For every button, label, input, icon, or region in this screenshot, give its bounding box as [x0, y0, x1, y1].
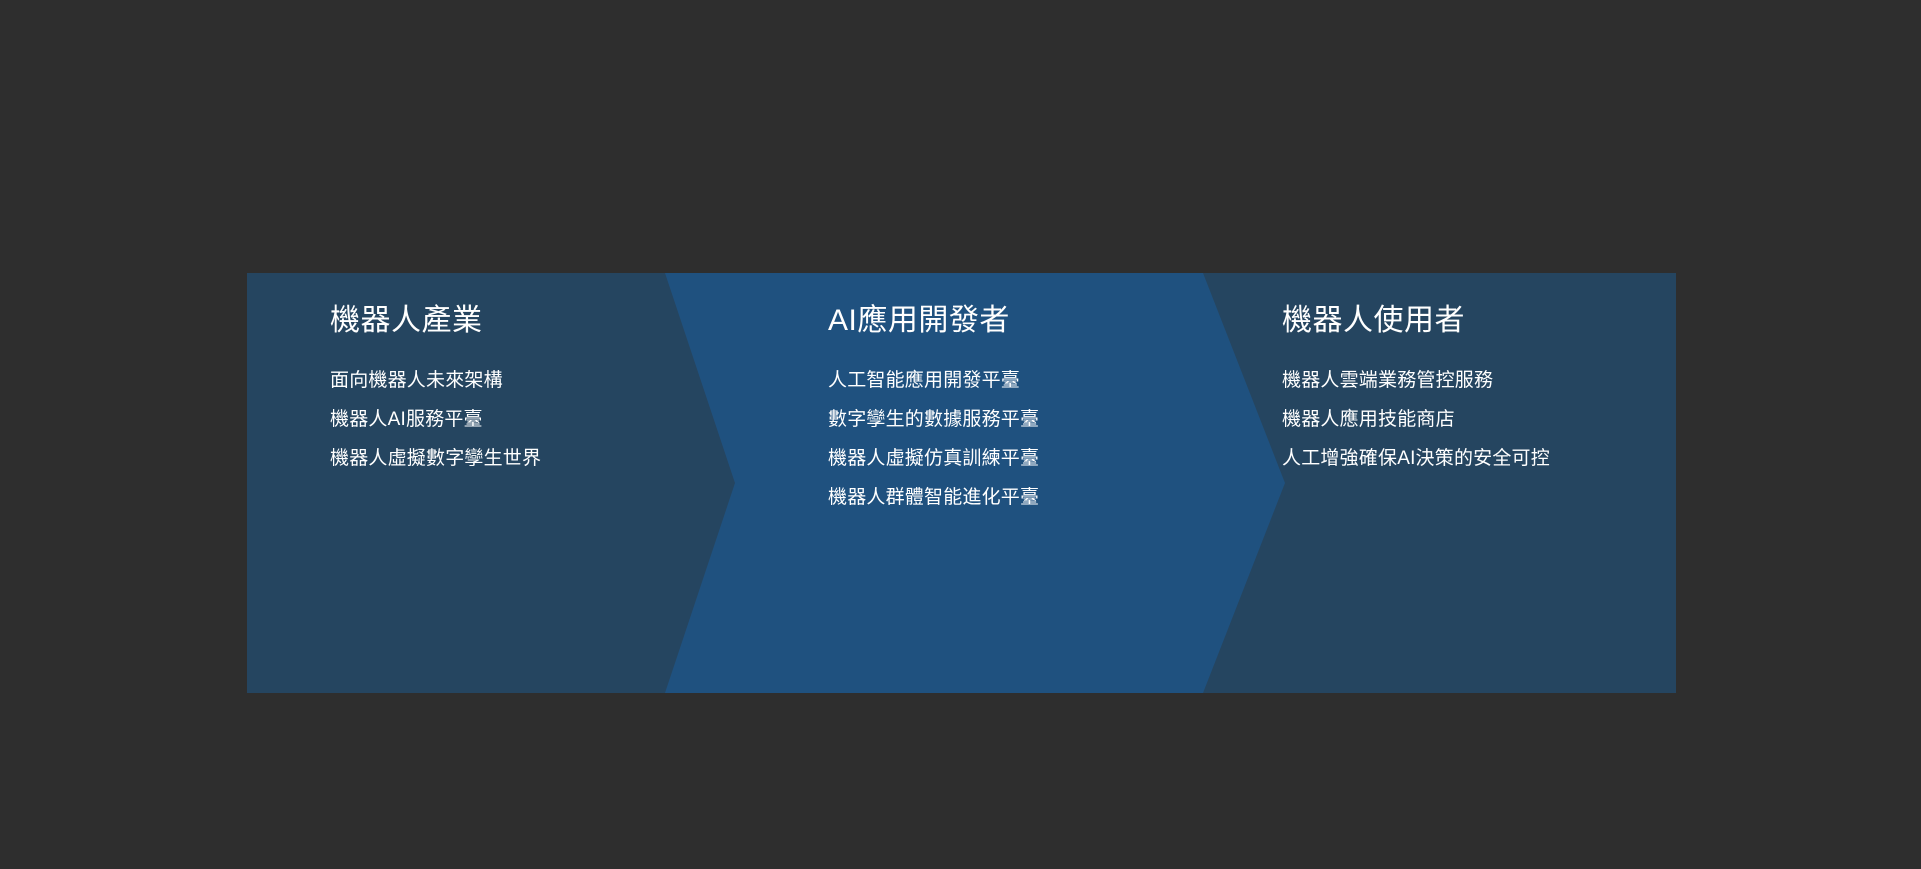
column-item-list: 面向機器人未來架構 機器人AI服務平臺 機器人虛擬數字孿生世界 — [330, 361, 541, 478]
list-item: 面向機器人未來架構 — [330, 361, 541, 400]
column-title: 機器人產業 — [330, 303, 483, 339]
diagram-panel: 機器人產業 面向機器人未來架構 機器人AI服務平臺 機器人虛擬數字孿生世界 AI… — [247, 273, 1676, 693]
stage-column-robot-industry: 機器人產業 面向機器人未來架構 機器人AI服務平臺 機器人虛擬數字孿生世界 — [330, 273, 660, 693]
list-item: 數字孿生的數據服務平臺 — [828, 400, 1039, 439]
list-item: 機器人應用技能商店 — [1282, 400, 1550, 439]
list-item: 機器人虛擬數字孿生世界 — [330, 439, 541, 478]
list-item: 機器人虛擬仿真訓練平臺 — [828, 439, 1039, 478]
column-title: AI應用開發者 — [828, 303, 1010, 339]
column-title: 機器人使用者 — [1282, 303, 1465, 339]
list-item: 人工增強確保AI決策的安全可控 — [1282, 439, 1550, 478]
stage-column-robot-user: 機器人使用者 機器人雲端業務管控服務 機器人應用技能商店 人工增強確保AI決策的… — [1282, 273, 1642, 693]
list-item: 人工智能應用開發平臺 — [828, 361, 1039, 400]
list-item: 機器人群體智能進化平臺 — [828, 478, 1039, 517]
stage-column-ai-app-developer: AI應用開發者 人工智能應用開發平臺 數字孿生的數據服務平臺 機器人虛擬仿真訓練… — [828, 273, 1158, 693]
list-item: 機器人AI服務平臺 — [330, 400, 541, 439]
list-item: 機器人雲端業務管控服務 — [1282, 361, 1550, 400]
column-item-list: 機器人雲端業務管控服務 機器人應用技能商店 人工增強確保AI決策的安全可控 — [1282, 361, 1550, 478]
column-item-list: 人工智能應用開發平臺 數字孿生的數據服務平臺 機器人虛擬仿真訓練平臺 機器人群體… — [828, 361, 1039, 517]
